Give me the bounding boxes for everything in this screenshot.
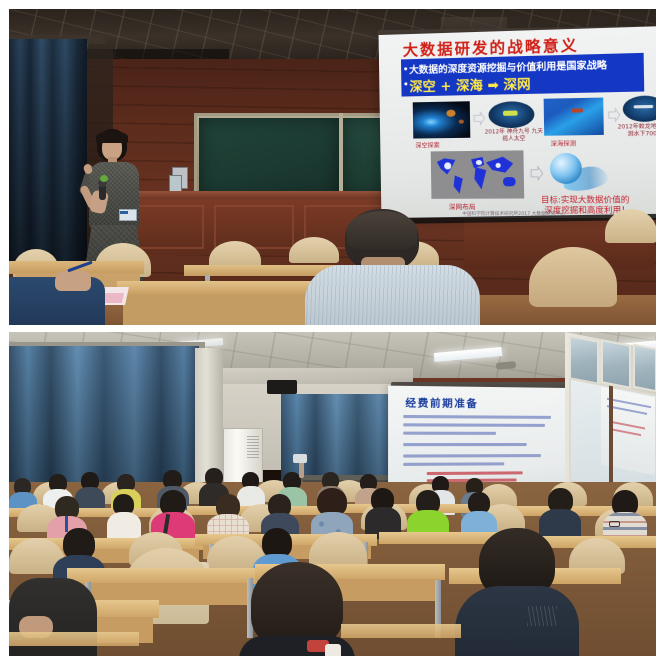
slide-caption-3: 深海探测 <box>551 138 577 148</box>
slide-text-line <box>403 415 551 419</box>
map-australia <box>503 177 516 186</box>
window-upper <box>633 344 656 393</box>
attendee-shirt-stripes <box>305 265 480 325</box>
foreground-attendee-striped-shirt <box>309 209 469 325</box>
photo-divider <box>0 325 665 332</box>
wall-pillar <box>195 348 223 482</box>
photo-border-right <box>656 0 665 665</box>
curtain-left-shadow <box>9 346 199 482</box>
shirt-texture <box>527 606 557 626</box>
slide-image-globe-network <box>548 150 608 194</box>
attendee-body <box>455 586 579 656</box>
slide-image-spacecraft-detail <box>503 111 518 116</box>
desk-nearest <box>9 632 139 646</box>
arrow-right-icon-2 <box>608 108 621 123</box>
attendee-hair <box>347 211 417 249</box>
window-upper <box>601 339 631 389</box>
air-conditioner-vent <box>247 436 259 458</box>
attendee-writing-hand <box>55 271 91 291</box>
slide-highlight-line <box>427 471 523 475</box>
arrow-right-icon-1 <box>473 111 486 125</box>
slide-text-line <box>403 432 496 435</box>
slide-text-line <box>403 454 541 458</box>
slide-bullet-2: 深空 + 深海 ➡ 深网 <box>409 73 530 95</box>
slide-image-submersible-detail <box>634 105 654 108</box>
slide-text-line <box>403 443 527 446</box>
chalkboard-panel-left <box>199 118 339 200</box>
microphone-flag-ornament <box>100 175 108 182</box>
wall-speaker-box <box>267 380 297 394</box>
photo-bottom-audience: 经费前期准备 中国科学院计算技术研究所 大数据研究中心 <box>9 332 656 656</box>
slide-image-deep-sea <box>544 98 604 136</box>
presenter-badge-stripe <box>120 211 128 214</box>
photo-border-left <box>0 0 9 665</box>
map-highlight-3 <box>496 163 501 168</box>
bullet-dot-1 <box>404 67 407 70</box>
projection-slide-top: 大数据研发的战略意义 大数据的深度资源挖掘与价值利用是国家战略 深空 + 深海 … <box>379 26 656 218</box>
slide-caption-1: 深空探索 <box>415 140 439 149</box>
slide-text-line <box>403 462 504 466</box>
attendee <box>107 494 141 540</box>
globe-sphere <box>550 153 582 184</box>
podium-top-surface <box>109 191 419 199</box>
photo-border-top <box>0 0 665 9</box>
slide-caption-2: 2012年 神舟九号 九天揽人太空 <box>485 129 544 144</box>
slide-title: 经费前期准备 <box>405 394 478 410</box>
map-highlight-1 <box>444 162 451 169</box>
map-highlight-2 <box>476 160 482 165</box>
slide-image-world-map <box>431 150 525 198</box>
desk-foreground-body <box>123 294 313 325</box>
photo-border-bottom <box>0 656 665 665</box>
desk-foreground <box>117 281 317 295</box>
slide-image-deep-space-glow-2 <box>459 120 464 124</box>
window-mullion <box>609 386 613 491</box>
desk-nearest <box>341 624 461 638</box>
foreground-attendee-center <box>239 562 355 656</box>
ceiling-beam <box>213 368 413 384</box>
presenter-fringe <box>96 131 128 143</box>
chair <box>605 209 656 243</box>
foreground-attendee-right <box>455 528 579 656</box>
map-africa <box>473 167 487 189</box>
photo-top-speaker: 大数据研发的战略意义 大数据的深度资源挖掘与价值利用是国家战略 深空 + 深海 … <box>9 9 656 325</box>
slide-image-submersible <box>623 95 656 122</box>
slide-text-line <box>403 423 545 427</box>
camera-phone <box>293 454 307 463</box>
bullet-dot-2 <box>404 82 407 85</box>
arrow-right-icon-3 <box>530 166 544 182</box>
slide-caption-4: 2012年蛟龙地大号 探测水下7000米 <box>617 123 656 139</box>
slide-image-deep-sea-detail <box>571 108 583 112</box>
attendee-striped-glasses <box>603 490 647 542</box>
map-south-america <box>451 175 463 193</box>
attendee <box>365 488 401 538</box>
paper-detail <box>325 644 341 656</box>
photo-collage: 大数据研发的战略意义 大数据的深度资源挖掘与价值利用是国家战略 深空 + 深海 … <box>0 0 665 665</box>
glasses-icon <box>609 521 620 527</box>
